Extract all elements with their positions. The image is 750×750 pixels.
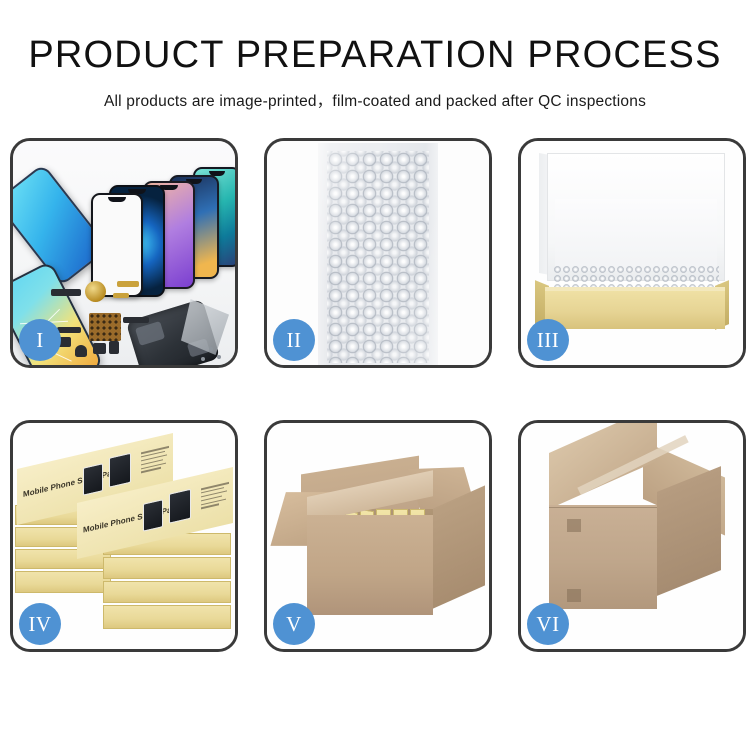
carton-right-side: [433, 485, 485, 608]
speaker-part-icon: [85, 281, 106, 302]
screw-icon: [217, 355, 221, 359]
box-front-panel: [545, 291, 725, 329]
plastic-sheen: [318, 143, 438, 365]
step-panel-1: I: [10, 138, 238, 368]
stacked-box: [103, 605, 231, 629]
box-label-text: Mobile Phone Spare Parts: [23, 466, 122, 499]
small-part-icon: [109, 341, 119, 354]
flex-cable-part-icon: [117, 281, 139, 287]
screw-icon: [201, 357, 205, 361]
page-subtitle: All products are image-printed，film-coat…: [0, 89, 750, 111]
small-part-icon: [57, 327, 81, 333]
small-part-icon: [123, 317, 149, 323]
step-panel-5: V: [264, 420, 492, 652]
stacked-box: [15, 571, 111, 593]
stacked-box: [103, 581, 231, 603]
foam-sheet: [555, 199, 717, 271]
small-part-icon: [75, 345, 87, 357]
header: PRODUCT PREPARATION PROCESS All products…: [0, 0, 750, 111]
carton-tab: [567, 519, 581, 532]
carton-front-panel: [307, 515, 433, 615]
bubble-wrap-strip: [318, 143, 438, 365]
screen-thumbnail: [109, 453, 131, 488]
product-preparation-infographic: PRODUCT PREPARATION PROCESS All products…: [0, 0, 750, 750]
stacked-box: [103, 557, 231, 579]
carton-front-panel: [549, 505, 657, 609]
step-panel-2: II: [264, 138, 492, 368]
small-part-icon: [93, 343, 106, 354]
connector-part-icon: [51, 289, 81, 296]
step-badge-6: VI: [527, 603, 569, 645]
step-badge-4: IV: [19, 603, 61, 645]
page-title: PRODUCT PREPARATION PROCESS: [0, 36, 750, 76]
screen-thumbnail: [169, 489, 191, 524]
box-label-text: Mobile Phone Spare Parts: [83, 503, 182, 535]
carton-seam: [549, 507, 657, 508]
screen-thumbnail: [143, 499, 163, 532]
step-panel-3: III: [518, 138, 746, 368]
step-panel-6: VI: [518, 420, 746, 652]
box-spec-lines: [201, 482, 229, 512]
step-panel-4: Mobile Phone Spare Parts Mobile Phone Sp…: [10, 420, 238, 652]
carton-tab: [567, 589, 581, 602]
box-spec-lines: [141, 446, 169, 476]
flex-cable-part-icon: [113, 293, 129, 298]
process-steps-grid: I II: [10, 138, 745, 683]
step-badge-2: II: [273, 319, 315, 361]
step-badge-3: III: [527, 319, 569, 361]
step-badge-1: I: [19, 319, 61, 361]
screen-thumbnail: [83, 463, 103, 496]
carton-top-face: [549, 423, 657, 509]
chip-grid-part-icon: [89, 313, 121, 341]
screw-icon: [209, 347, 213, 351]
step-badge-5: V: [273, 603, 315, 645]
